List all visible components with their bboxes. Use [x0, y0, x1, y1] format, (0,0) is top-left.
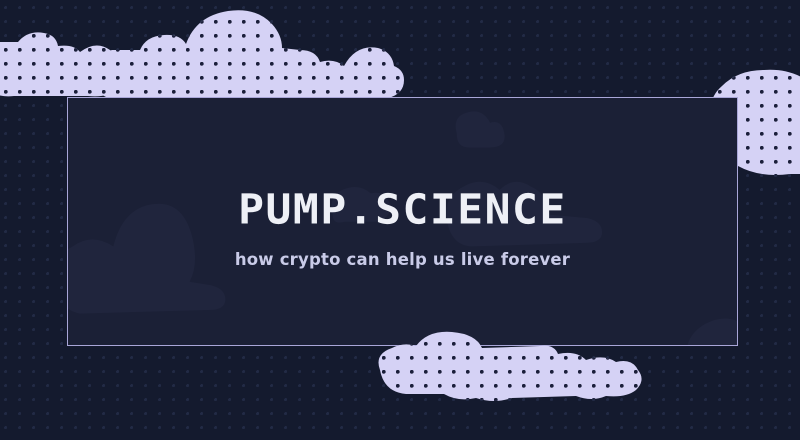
hero-panel: PUMP.SCIENCE how crypto can help us live… — [67, 97, 738, 346]
page-subtitle: how crypto can help us live forever — [235, 250, 570, 269]
page-title: PUMP.SCIENCE — [238, 189, 567, 230]
hero-text-block: PUMP.SCIENCE how crypto can help us live… — [68, 98, 737, 345]
